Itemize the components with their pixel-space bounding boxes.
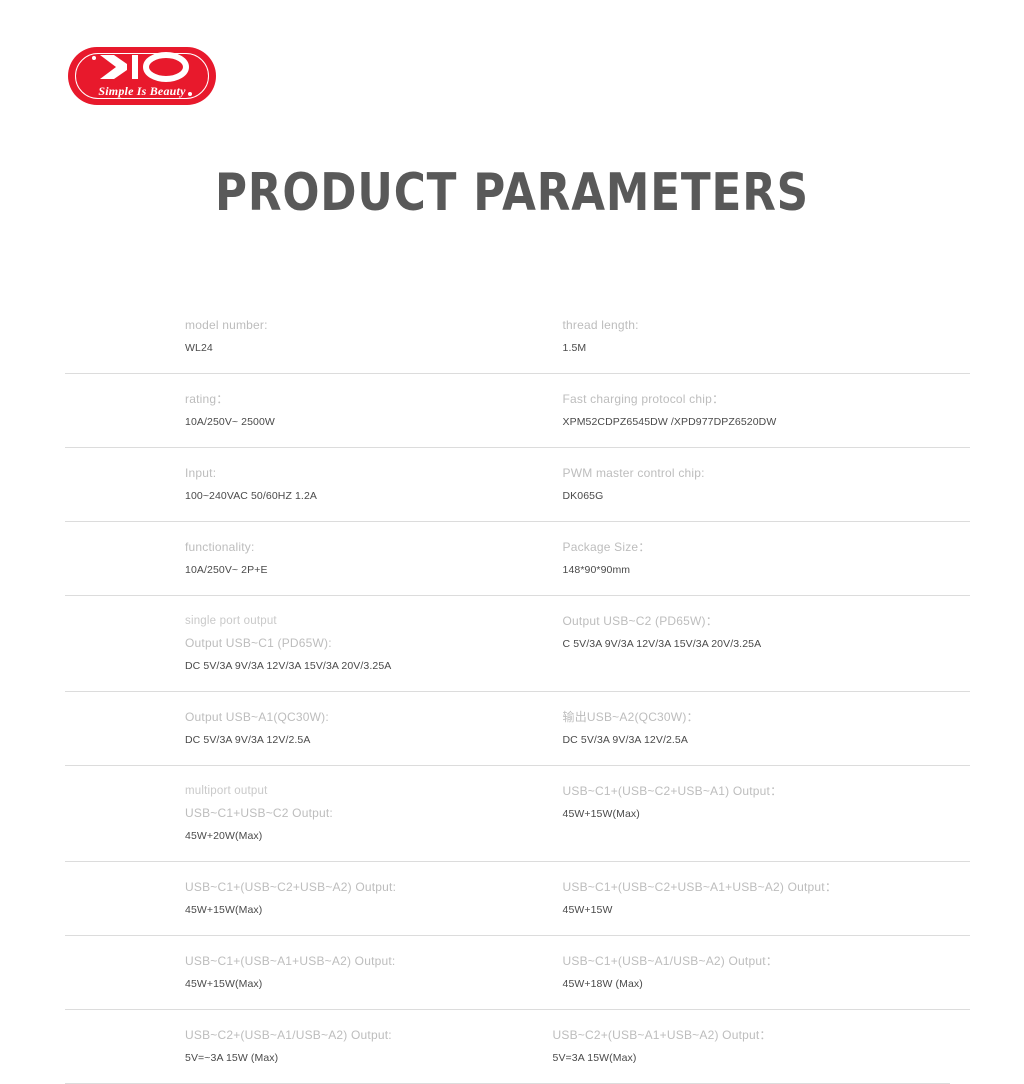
spec-cell-right: USB~C1+(USB~C2+USB~A1+USB~A2) Output：45W… bbox=[518, 862, 971, 935]
spec-label: Fast charging protocol chip： bbox=[563, 388, 971, 411]
spec-cell-left: rating：10A/250V~ 2500W bbox=[65, 374, 518, 447]
spec-label: model number: bbox=[185, 314, 518, 337]
spec-section-label: single port output bbox=[185, 610, 518, 632]
spec-value: C 5V/3A 9V/3A 12V/3A 15V/3A 20V/3.25A bbox=[563, 633, 971, 655]
spec-label: Input: bbox=[185, 462, 518, 485]
spec-label: USB~C1+(USB~C2+USB~A2) Output: bbox=[185, 876, 518, 899]
spec-cell-right: USB~C1+(USB~A1/USB~A2) Output：45W+18W (M… bbox=[518, 936, 971, 1009]
spec-cell-right: Output USB~C2 (PD65W)：C 5V/3A 9V/3A 12V/… bbox=[518, 596, 971, 691]
spec-value: 45W+20W(Max) bbox=[185, 825, 518, 847]
logo-tagline: Simple Is Beauty bbox=[68, 85, 216, 98]
spec-label: USB~C1+USB~C2 Output: bbox=[185, 802, 518, 825]
spec-label: Output USB~A1(QC30W): bbox=[185, 706, 518, 729]
spec-label: Package Size： bbox=[563, 536, 971, 559]
spec-row: model number:WL24thread length:1.5M bbox=[65, 300, 970, 374]
spec-cell-right: thread length:1.5M bbox=[518, 300, 971, 373]
spec-label: Output USB~C1 (PD65W): bbox=[185, 632, 518, 655]
spec-value: 45W+18W (Max) bbox=[563, 973, 971, 995]
spec-cell-left: USB~C2+(USB~A1/USB~A2) Output:5V=~3A 15W… bbox=[65, 1010, 508, 1083]
spec-label: rating： bbox=[185, 388, 518, 411]
specification-table: model number:WL24thread length:1.5Mratin… bbox=[65, 300, 970, 1084]
spec-row: Output USB~A1(QC30W):DC 5V/3A 9V/3A 12V/… bbox=[65, 692, 970, 766]
spec-cell-left: functionality:10A/250V~ 2P+E bbox=[65, 522, 518, 595]
spec-row: Input:100~240VAC 50/60HZ 1.2APWM master … bbox=[65, 448, 970, 522]
spec-row: USB~C1+(USB~C2+USB~A2) Output:45W+15W(Ma… bbox=[65, 862, 970, 936]
spec-cell-right: Fast charging protocol chip：XPM52CDPZ654… bbox=[518, 374, 971, 447]
spec-value: 148*90*90mm bbox=[563, 559, 971, 581]
spec-label: thread length: bbox=[563, 314, 971, 337]
spec-value: DC 5V/3A 9V/3A 12V/2.5A bbox=[185, 729, 518, 751]
spec-value: 45W+15W(Max) bbox=[563, 803, 971, 825]
spec-label: USB~C1+(USB~A1/USB~A2) Output： bbox=[563, 950, 971, 973]
spec-label: functionality: bbox=[185, 536, 518, 559]
spec-label: 输出USB~A2(QC30W)： bbox=[563, 706, 971, 729]
spec-value: DC 5V/3A 9V/3A 12V/2.5A bbox=[563, 729, 971, 751]
spec-value: 45W+15W(Max) bbox=[185, 973, 518, 995]
spec-value: XPM52CDPZ6545DW /XPD977DPZ6520DW bbox=[563, 411, 971, 433]
spec-row: single port outputOutput USB~C1 (PD65W):… bbox=[65, 596, 970, 692]
spec-label: Output USB~C2 (PD65W)： bbox=[563, 610, 971, 633]
spec-cell-right: USB~C2+(USB~A1+USB~A2) Output：5V=3A 15W(… bbox=[508, 1010, 951, 1083]
logo-xo-mark bbox=[68, 52, 216, 82]
brand-logo: Simple Is Beauty bbox=[68, 47, 216, 105]
spec-cell-left: Input:100~240VAC 50/60HZ 1.2A bbox=[65, 448, 518, 521]
spec-cell-right: 输出USB~A2(QC30W)：DC 5V/3A 9V/3A 12V/2.5A bbox=[518, 692, 971, 765]
spec-cell-right: USB~C1+(USB~C2+USB~A1) Output：45W+15W(Ma… bbox=[518, 766, 971, 861]
spec-label: USB~C1+(USB~A1+USB~A2) Output: bbox=[185, 950, 518, 973]
product-parameters-page: Simple Is Beauty PRODUCT PARAMETERS mode… bbox=[0, 0, 1024, 1024]
spec-cell-left: Output USB~A1(QC30W):DC 5V/3A 9V/3A 12V/… bbox=[65, 692, 518, 765]
spec-value: 5V=~3A 15W (Max) bbox=[185, 1047, 508, 1069]
spec-value: 45W+15W(Max) bbox=[185, 899, 518, 921]
spec-label: USB~C1+(USB~C2+USB~A1+USB~A2) Output： bbox=[563, 876, 971, 899]
spec-row: rating：10A/250V~ 2500WFast charging prot… bbox=[65, 374, 970, 448]
spec-section-label: multiport output bbox=[185, 780, 518, 802]
spec-value: 10A/250V~ 2500W bbox=[185, 411, 518, 433]
spec-cell-left: USB~C1+(USB~C2+USB~A2) Output:45W+15W(Ma… bbox=[65, 862, 518, 935]
spec-value: 45W+15W bbox=[563, 899, 971, 921]
page-title: PRODUCT PARAMETERS bbox=[82, 163, 942, 223]
spec-row: USB~C1+(USB~A1+USB~A2) Output:45W+15W(Ma… bbox=[65, 936, 970, 1010]
spec-value: 5V=3A 15W(Max) bbox=[553, 1047, 951, 1069]
spec-value: DK065G bbox=[563, 485, 971, 507]
spec-label: USB~C2+(USB~A1/USB~A2) Output: bbox=[185, 1024, 508, 1047]
spec-row: multiport outputUSB~C1+USB~C2 Output:45W… bbox=[65, 766, 970, 862]
spec-value: 1.5M bbox=[563, 337, 971, 359]
spec-cell-right: Package Size：148*90*90mm bbox=[518, 522, 971, 595]
spec-value: WL24 bbox=[185, 337, 518, 359]
spec-label: USB~C1+(USB~C2+USB~A1) Output： bbox=[563, 780, 971, 803]
spec-row: functionality:10A/250V~ 2P+EPackage Size… bbox=[65, 522, 970, 596]
spec-cell-left: model number:WL24 bbox=[65, 300, 518, 373]
spec-row: USB~C2+(USB~A1/USB~A2) Output:5V=~3A 15W… bbox=[65, 1010, 950, 1084]
spec-cell-right: PWM master control chip:DK065G bbox=[518, 448, 971, 521]
spec-cell-left: USB~C1+(USB~A1+USB~A2) Output:45W+15W(Ma… bbox=[65, 936, 518, 1009]
spec-label: USB~C2+(USB~A1+USB~A2) Output： bbox=[553, 1024, 951, 1047]
spec-value: 100~240VAC 50/60HZ 1.2A bbox=[185, 485, 518, 507]
spec-value: 10A/250V~ 2P+E bbox=[185, 559, 518, 581]
spec-label: PWM master control chip: bbox=[563, 462, 971, 485]
spec-value: DC 5V/3A 9V/3A 12V/3A 15V/3A 20V/3.25A bbox=[185, 655, 518, 677]
spec-cell-left: single port outputOutput USB~C1 (PD65W):… bbox=[65, 596, 518, 691]
spec-cell-left: multiport outputUSB~C1+USB~C2 Output:45W… bbox=[65, 766, 518, 861]
